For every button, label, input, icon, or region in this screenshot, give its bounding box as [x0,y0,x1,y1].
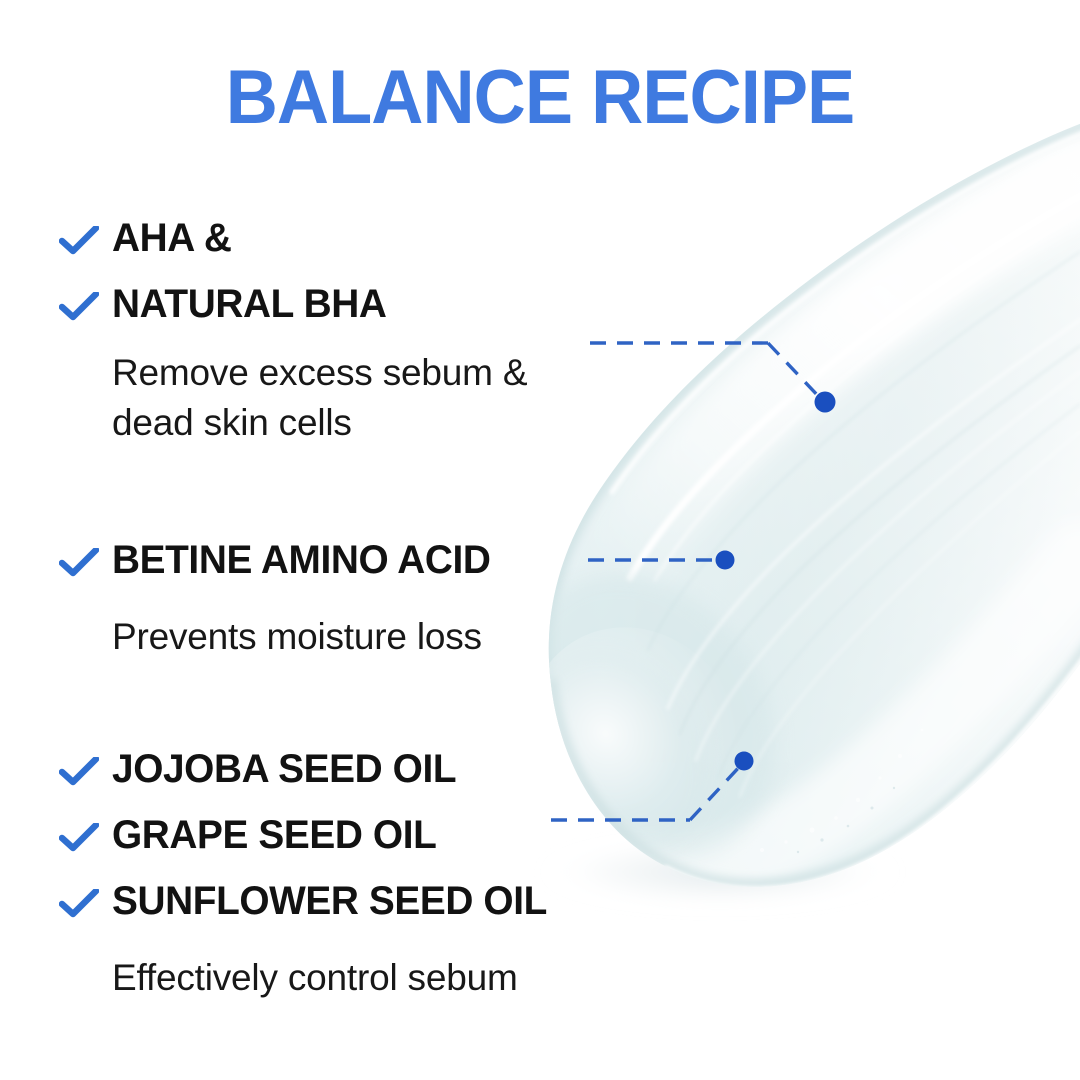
check-icon [58,809,112,853]
check-icon [58,743,112,787]
check-icon [58,534,112,578]
list-item: NATURAL BHA [58,278,527,344]
check-icon [58,875,112,919]
ingredient-description: Effectively control sebum [112,953,560,1003]
callout-aha-bha-leader-diagonal [768,343,822,400]
ingredient-name: BETINE AMINO ACID [112,534,491,586]
list-item: SUNFLOWER SEED OIL [58,875,560,941]
list-item: JOJOBA SEED OIL [58,743,560,809]
ingredient-name: JOJOBA SEED OIL [112,743,456,795]
callout-betine-dot [716,551,735,570]
check-icon [58,212,112,256]
description-line: Prevents moisture loss [112,612,502,662]
check-icon [58,278,112,322]
callout-seed-oils-leader-diagonal [690,764,742,820]
page-title: BALANCE RECIPE [27,58,1053,138]
description-line: Remove excess sebum & [112,348,527,398]
ingredient-group-seed-oils: JOJOBA SEED OIL GRAPE SEED OIL SUNFLOWER… [58,743,560,1003]
ingredient-name: AHA & [112,212,231,264]
callout-aha-bha-dot [815,392,836,413]
ingredient-name: SUNFLOWER SEED OIL [112,875,547,927]
list-item: AHA & [58,212,527,278]
ingredient-description: Prevents moisture loss [112,612,502,662]
callout-seed-oils-dot [735,752,754,771]
list-item: GRAPE SEED OIL [58,809,560,875]
balance-recipe-infographic: BALANCE RECIPE AHA & NATURAL BHA Remove … [0,0,1080,1080]
ingredient-group-aha-bha: AHA & NATURAL BHA Remove excess sebum & … [58,212,527,448]
list-item: BETINE AMINO ACID [58,534,502,600]
ingredient-name: GRAPE SEED OIL [112,809,436,861]
description-line: Effectively control sebum [112,953,560,1003]
ingredient-group-betine-amino-acid: BETINE AMINO ACID Prevents moisture loss [58,534,502,662]
ingredient-name: NATURAL BHA [112,278,386,330]
description-line: dead skin cells [112,398,527,448]
ingredient-description: Remove excess sebum & dead skin cells [112,348,527,448]
